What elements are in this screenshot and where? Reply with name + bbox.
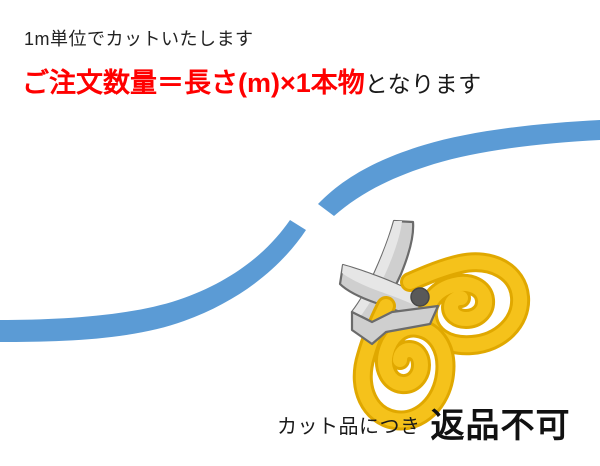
scissors-blade-shoulders: [352, 306, 438, 344]
scissors-lower-handle: [363, 306, 446, 420]
scissors-pivot-screw: [411, 288, 429, 306]
blue-cord-right-segment: [318, 120, 600, 216]
scissors-upper-handle: [410, 262, 520, 345]
order-formula-text: ご注文数量＝長さ(m)×1本物となります: [22, 70, 482, 97]
no-return-text: カット品につき返品不可: [277, 409, 571, 443]
blue-cord-left-segment: [0, 220, 306, 342]
no-return-emphasis: 返品不可: [431, 407, 571, 445]
no-return-prefix: カット品につき: [277, 416, 421, 438]
scissors-lower-blade: [340, 265, 438, 324]
cord-cut-gap: [297, 198, 323, 224]
cut-notice-banner: 1m単位でカットいたします ご注文数量＝長さ(m)×1本物となります カット品に…: [0, 0, 600, 466]
order-formula-red: ご注文数量＝長さ(m)×1本物: [22, 68, 365, 98]
order-formula-suffix: となります: [365, 71, 482, 97]
scissors-upper-blade: [352, 221, 413, 322]
cut-unit-text: 1m単位でカットいたします: [24, 30, 254, 48]
scissors-illustration: [340, 221, 520, 420]
